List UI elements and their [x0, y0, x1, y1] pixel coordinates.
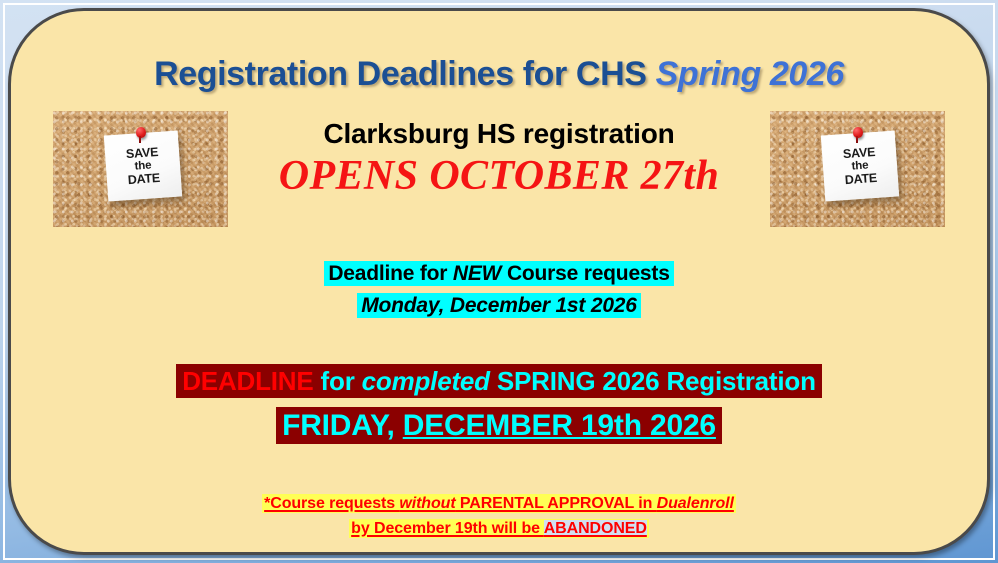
- footnote-line1: *Course requests without PARENTAL APPROV…: [11, 491, 987, 516]
- footnote-line1-highlight: *Course requests without PARENTAL APPROV…: [262, 494, 736, 513]
- new-course-line2-highlight: Monday, December 1st 2026: [357, 293, 641, 318]
- footnote-line1-part2: PARENTAL APPROVAL in: [456, 495, 657, 512]
- registration-deadline-banner: DEADLINE for completed SPRING 2026 Regis…: [11, 361, 987, 451]
- footnote-line1-part1: *Course requests: [264, 495, 399, 512]
- deadline-line2-part1: FRIDAY,: [282, 409, 403, 442]
- pushpin-icon: [853, 127, 863, 138]
- deadline-line1-part2: SPRING 2026 Registration: [490, 366, 816, 396]
- opening-subtitle: Clarksburg HS registration: [11, 117, 987, 151]
- deadline-line2-date: DECEMBER 19th 2026: [403, 409, 716, 442]
- deadline-keyword: DEADLINE: [182, 366, 313, 396]
- new-course-deadline-line1: Deadline for NEW Course requests: [11, 259, 987, 291]
- footnote-line2-highlight: by December 19th will be ABANDONED: [349, 519, 649, 538]
- deadline-band-line2: FRIDAY, DECEMBER 19th 2026: [276, 407, 722, 444]
- footnote-block: *Course requests without PARENTAL APPROV…: [11, 491, 987, 541]
- page-title: Registration Deadlines for CHS Spring 20…: [11, 55, 987, 94]
- deadline-line1-emphasis: completed: [362, 366, 490, 396]
- new-course-line1-emphasis: NEW: [453, 262, 501, 285]
- deadline-band-line1: DEADLINE for completed SPRING 2026 Regis…: [176, 364, 822, 398]
- pushpin-icon: [136, 127, 146, 138]
- opening-announcement: Clarksburg HS registration OPENS OCTOBER…: [11, 117, 987, 201]
- registration-deadline-line1: DEADLINE for completed SPRING 2026 Regis…: [11, 361, 987, 406]
- slide-backdrop: Registration Deadlines for CHS Spring 20…: [0, 0, 998, 563]
- registration-deadline-line2: FRIDAY, DECEMBER 19th 2026: [11, 406, 987, 451]
- footnote-line2: by December 19th will be ABANDONED: [11, 516, 987, 541]
- deadline-line1-part1: for: [314, 366, 362, 396]
- footnote-line2-part1: by December 19th will be: [351, 520, 544, 537]
- flyer-card: Registration Deadlines for CHS Spring 20…: [8, 8, 990, 555]
- opening-date: OPENS OCTOBER 27th: [11, 151, 987, 201]
- new-course-line1-highlight: Deadline for NEW Course requests: [324, 261, 673, 286]
- new-course-deadline-line2: Monday, December 1st 2026: [11, 291, 987, 323]
- footnote-line1-emphasis1: without: [399, 495, 455, 512]
- new-course-deadline-block: Deadline for NEW Course requests Monday,…: [11, 259, 987, 323]
- footnote-line2-abandoned: ABANDONED: [544, 520, 647, 537]
- title-term-text: Spring 2026: [656, 55, 844, 93]
- title-main-text: Registration Deadlines for CHS: [154, 55, 646, 93]
- new-course-line1-part1: Deadline for: [328, 262, 453, 285]
- title-spacer: [647, 55, 656, 93]
- new-course-line1-part2: Course requests: [501, 262, 669, 285]
- footnote-line1-emphasis2: Dualenroll: [657, 495, 734, 512]
